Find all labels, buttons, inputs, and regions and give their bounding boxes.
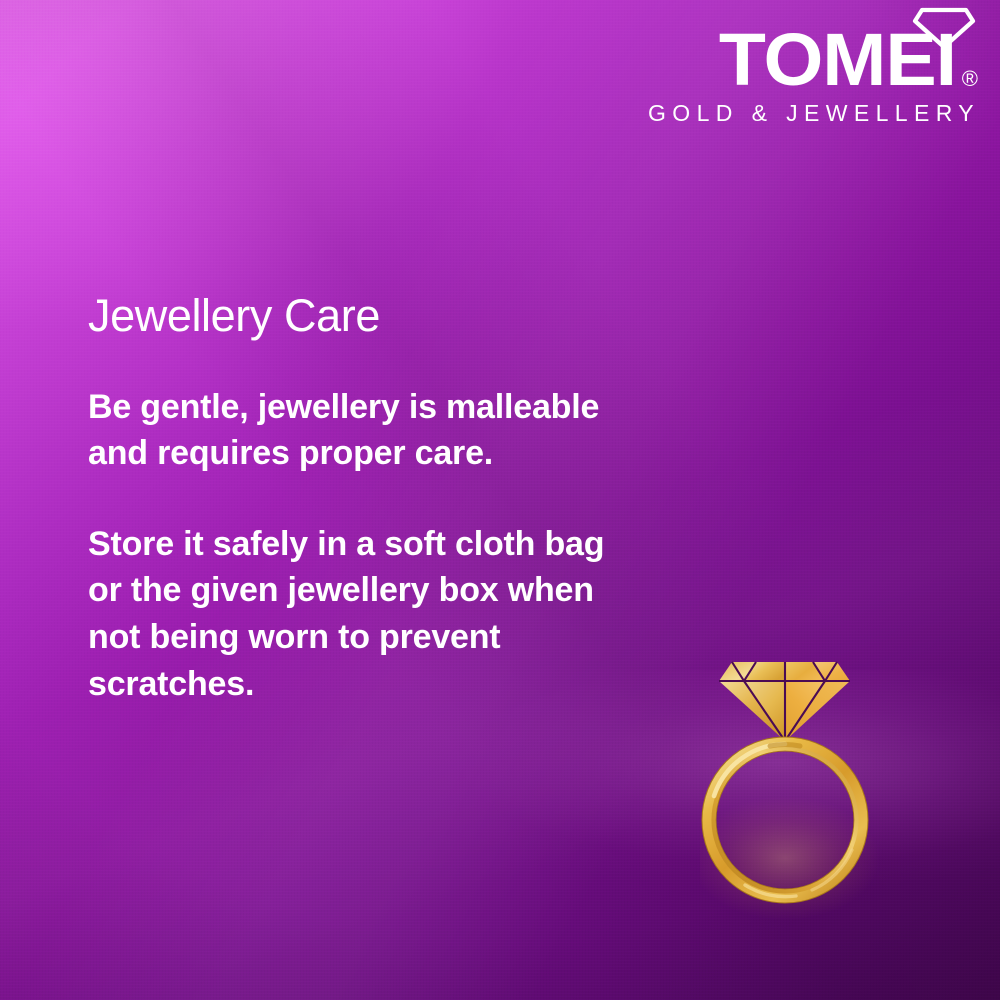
poster-canvas: TOMEI ® GOLD & JEWELLERY Jewellery Care … — [0, 0, 1000, 1000]
brand-tagline: GOLD & JEWELLERY — [648, 100, 976, 127]
registered-trademark-icon: ® — [962, 68, 978, 90]
diamond-ring-illustration — [700, 640, 880, 920]
copy-block: Jewellery Care Be gentle, jewellery is m… — [88, 292, 708, 707]
body-paragraph-2: Store it safely in a soft cloth bag or t… — [88, 521, 633, 707]
brand-wordmark-row: TOMEI ® — [648, 26, 978, 94]
diamond-gem-icon — [719, 662, 850, 741]
body-paragraph-1: Be gentle, jewellery is malleable and re… — [88, 384, 633, 477]
page-title: Jewellery Care — [88, 292, 708, 340]
brand-logo: TOMEI ® GOLD & JEWELLERY — [648, 26, 978, 127]
brand-wordmark: TOMEI — [719, 26, 956, 94]
